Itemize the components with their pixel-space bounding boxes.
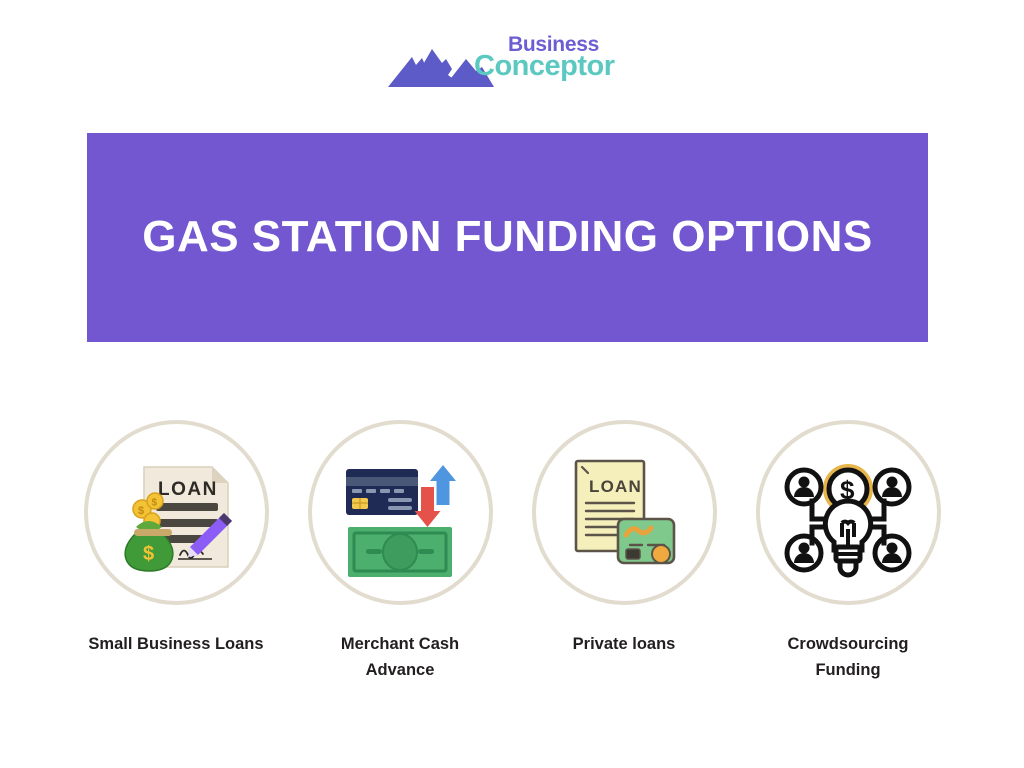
lightbulb-dollar-people-network-icon: $ bbox=[778, 443, 918, 583]
funding-option-label: Merchant Cash Advance bbox=[310, 631, 490, 684]
page-title: GAS STATION FUNDING OPTIONS bbox=[142, 213, 873, 261]
funding-option-private-loans[interactable]: LOAN Privat bbox=[512, 420, 736, 657]
credit-card-banknote-exchange-icon bbox=[330, 443, 470, 583]
brand-name-bottom: Conceptor bbox=[474, 50, 615, 83]
funding-option-crowdsourcing-funding[interactable]: $ bbox=[736, 420, 960, 684]
loan-document-money-bag-icon: LOAN $ $ bbox=[106, 443, 246, 583]
funding-option-small-business-loans[interactable]: LOAN $ $ bbox=[64, 420, 288, 657]
svg-text:$: $ bbox=[143, 543, 154, 565]
svg-text:LOAN: LOAN bbox=[589, 477, 642, 496]
title-banner: GAS STATION FUNDING OPTIONS bbox=[87, 133, 928, 342]
brand-logo: Business Conceptor bbox=[0, 30, 1024, 94]
funding-option-label: Small Business Loans bbox=[88, 631, 263, 657]
funding-option-merchant-cash-advance[interactable]: Merchant Cash Advance bbox=[288, 420, 512, 684]
loan-document-card-icon: LOAN bbox=[554, 443, 694, 583]
icon-circle: $ bbox=[756, 420, 941, 605]
icon-circle: LOAN $ $ bbox=[84, 420, 269, 605]
funding-option-label: Crowdsourcing Funding bbox=[758, 631, 938, 684]
svg-text:$: $ bbox=[138, 505, 144, 517]
funding-options-row: LOAN $ $ bbox=[64, 420, 960, 710]
svg-text:$: $ bbox=[152, 497, 158, 508]
icon-circle bbox=[308, 420, 493, 605]
funding-option-label: Private loans bbox=[573, 631, 676, 657]
icon-circle: LOAN bbox=[532, 420, 717, 605]
svg-text:LOAN: LOAN bbox=[158, 479, 218, 500]
